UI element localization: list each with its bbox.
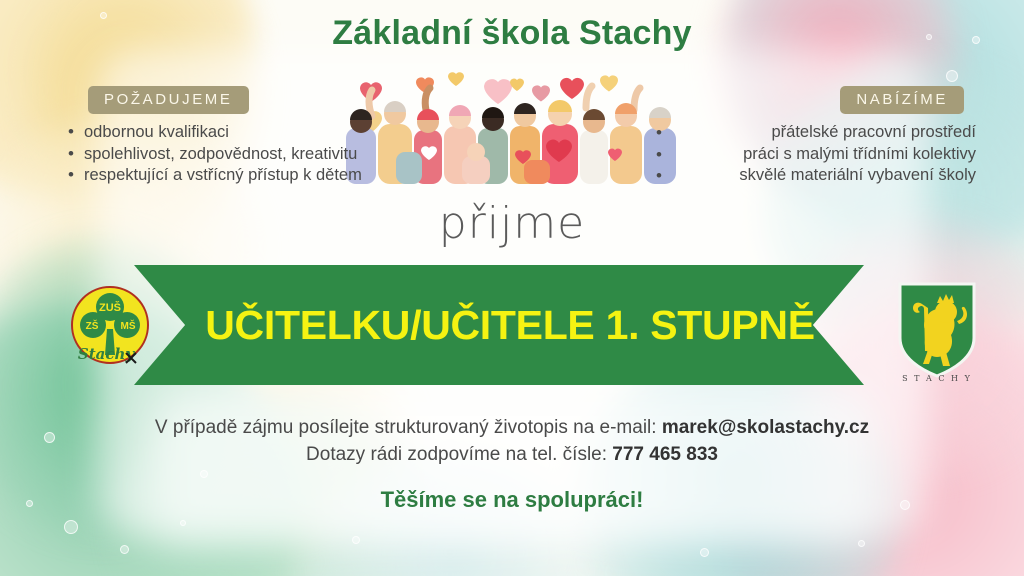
position-title: UČITELKU/UČITELE 1. STUPNĚ: [134, 265, 864, 385]
offer-column: NABÍZÍME •přátelské pracovní prostředí •…: [680, 86, 980, 188]
list-item-label: přátelské pracovní prostředí: [771, 123, 976, 141]
contact-email[interactable]: marek@skolastachy.cz: [662, 417, 869, 438]
contact-phone[interactable]: 777 465 833: [612, 444, 718, 465]
diverse-crowd-illustration: [338, 66, 686, 184]
list-item: •práci s malými třídními kolektivy: [680, 145, 980, 165]
closing-message: Těšíme se na spolupráci!: [0, 487, 1024, 513]
list-item: •skvělé materiální vybavení školy: [680, 166, 980, 186]
contact-email-prefix: V případě zájmu posílejte strukturovaný …: [155, 417, 662, 438]
position-banner: UČITELKU/UČITELE 1. STUPNĚ: [134, 265, 864, 385]
school-logo: ZUŠ ZŠ MŠ Stachy: [62, 283, 158, 375]
logo-top-label: ZUŠ: [99, 301, 121, 314]
bullet-icon: •: [656, 145, 662, 165]
logo-left-label: ZŠ: [86, 319, 99, 332]
contact-phone-prefix: Dotazy rádi zodpovíme na tel. čísle:: [306, 444, 612, 465]
list-item: respektující a vstřícný přístup k dětem: [62, 166, 362, 186]
coat-of-arms: S T A C H Y: [894, 280, 980, 384]
contact-block: V případě zájmu posílejte strukturovaný …: [0, 414, 1024, 468]
bullet-icon: •: [656, 123, 662, 143]
coat-of-arms-caption: S T A C H Y: [902, 374, 972, 383]
list-item: odbornou kvalifikaci: [62, 123, 362, 143]
logo-right-label: MŠ: [121, 319, 136, 332]
contact-email-line: V případě zájmu posílejte strukturovaný …: [0, 414, 1024, 441]
requirements-list: odbornou kvalifikaci spolehlivost, zodpo…: [62, 123, 362, 186]
job-advert-poster: Základní škola Stachy: [0, 0, 1024, 576]
bullet-icon: •: [656, 166, 662, 186]
contact-phone-line: Dotazy rádi zodpovíme na tel. čísle: 777…: [0, 441, 1024, 468]
requirements-column: POŽADUJEME odbornou kvalifikaci spolehli…: [62, 86, 362, 188]
offer-heading: NABÍZÍME: [840, 86, 964, 114]
offer-list: •přátelské pracovní prostředí •práci s m…: [680, 123, 980, 186]
list-item-label: práci s malými třídními kolektivy: [743, 145, 976, 163]
list-item-label: skvělé materiální vybavení školy: [739, 166, 976, 184]
list-item: •přátelské pracovní prostředí: [680, 123, 980, 143]
requirements-heading: POŽADUJEME: [88, 86, 249, 114]
hiring-verb: přijme: [0, 198, 1024, 249]
list-item: spolehlivost, zodpovědnost, kreativitu: [62, 145, 362, 165]
page-title: Základní škola Stachy: [0, 14, 1024, 53]
